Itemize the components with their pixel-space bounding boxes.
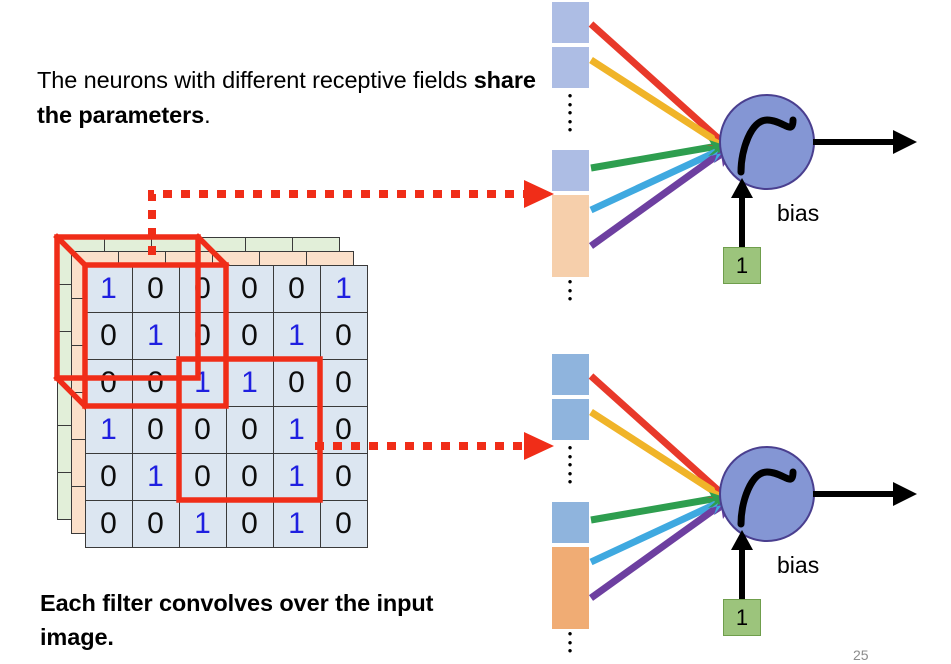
output-arrow-icon [813, 130, 917, 154]
neuron-bottom: ••••• ••• [545, 352, 945, 652]
headline-part2: . [204, 102, 210, 128]
bias-label: bias [777, 552, 819, 579]
wire-red [591, 376, 720, 492]
matrix-cell: 0 [226, 312, 274, 360]
matrix-cell: 0 [85, 359, 133, 407]
wire-yellow [591, 60, 718, 142]
matrix-cell: 0 [85, 312, 133, 360]
matrix-cell: 1 [226, 359, 274, 407]
matrix-cell: 0 [226, 265, 274, 313]
matrix-cell: 0 [320, 312, 368, 360]
matrix-cell: 0 [179, 406, 227, 454]
matrix-cell: 1 [85, 265, 133, 313]
matrix-cell: 0 [179, 453, 227, 501]
bias-arrow-icon [731, 178, 753, 247]
matrix-cell: 0 [132, 359, 180, 407]
matrix-cell: 0 [320, 406, 368, 454]
bias-input-box[interactable]: 1 [723, 599, 761, 636]
matrix-cell: 0 [226, 453, 274, 501]
bias-label: bias [777, 200, 819, 227]
caption-text: Each filter convolves over the input ima… [40, 586, 510, 654]
matrix-cell: 1 [132, 312, 180, 360]
matrix-cell: 0 [273, 265, 321, 313]
matrix-cell: 0 [132, 500, 180, 548]
matrix-cell: 1 [132, 453, 180, 501]
matrix-cell: 1 [320, 265, 368, 313]
headline-text: The neurons with different receptive fie… [37, 63, 537, 133]
bias-arrow-icon [731, 530, 753, 599]
layer-front-blue: 100001010010001100100010010010001010 [85, 265, 367, 547]
slide-canvas: The neurons with different receptive fie… [0, 0, 951, 664]
matrix-cell: 0 [85, 453, 133, 501]
neuron-top: ••••• ••• [545, 0, 945, 300]
matrix-cell: 0 [179, 312, 227, 360]
matrix-cell: 1 [85, 406, 133, 454]
matrix-cell: 1 [273, 500, 321, 548]
headline-part1: The neurons with different receptive fie… [37, 67, 474, 93]
matrix-cell: 0 [85, 500, 133, 548]
matrix-cell: 0 [132, 265, 180, 313]
matrix-cell: 0 [320, 453, 368, 501]
matrix-cell: 0 [226, 500, 274, 548]
output-arrow-icon [813, 482, 917, 506]
matrix-cell: 0 [226, 406, 274, 454]
bias-input-box[interactable]: 1 [723, 247, 761, 284]
matrix-cell: 0 [273, 359, 321, 407]
matrix-cell: 0 [179, 265, 227, 313]
matrix-cell: 1 [273, 406, 321, 454]
neuron-circle [720, 447, 814, 541]
matrix-cell: 1 [273, 312, 321, 360]
page-number: 25 [853, 647, 869, 663]
input-feature-map-stack: 100001010010001100100010010010001010 100… [57, 237, 387, 557]
matrix-cell: 1 [273, 453, 321, 501]
neuron-circle [720, 95, 814, 189]
matrix-cell: 0 [320, 500, 368, 548]
matrix-cell: 0 [320, 359, 368, 407]
wire-red [591, 24, 720, 140]
wire-yellow [591, 412, 718, 494]
matrix-cell: 0 [132, 406, 180, 454]
matrix-cell: 1 [179, 359, 227, 407]
matrix-cell: 1 [179, 500, 227, 548]
